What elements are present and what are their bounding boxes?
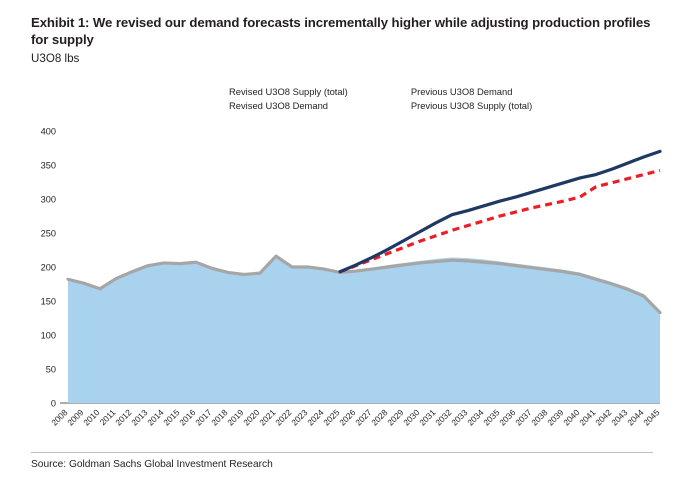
x-axis-tick-label: 2037 bbox=[513, 407, 533, 427]
x-axis-tick-label: 2012 bbox=[113, 407, 133, 427]
x-axis-tick-label: 2030 bbox=[401, 407, 421, 427]
x-axis-tick-label: 2039 bbox=[545, 407, 565, 427]
x-axis-tick-label: 2022 bbox=[273, 407, 293, 427]
y-axis-tick-label: 400 bbox=[41, 126, 56, 136]
x-axis-tick-label: 2036 bbox=[497, 407, 517, 427]
x-axis-tick-label: 2017 bbox=[193, 407, 213, 427]
x-axis-tick-label: 2038 bbox=[529, 407, 549, 427]
x-axis-tick-label: 2010 bbox=[81, 407, 101, 427]
y-axis-tick-label: 100 bbox=[41, 330, 56, 340]
series-area-revised-supply bbox=[68, 256, 660, 403]
exhibit-chart-panel: Exhibit 1: We revised our demand forecas… bbox=[0, 0, 680, 484]
x-axis-tick-label: 2025 bbox=[321, 407, 341, 427]
x-axis-tick-label: 2041 bbox=[577, 407, 597, 427]
y-axis-tick-label: 250 bbox=[41, 228, 56, 238]
x-axis-tick-label: 2028 bbox=[369, 407, 389, 427]
source-note: Source: Goldman Sachs Global Investment … bbox=[31, 459, 273, 470]
footer-divider bbox=[31, 452, 653, 453]
x-axis-tick-label: 2033 bbox=[449, 407, 469, 427]
y-axis-tick-label: 300 bbox=[41, 194, 56, 204]
x-axis-tick-label: 2015 bbox=[161, 407, 181, 427]
x-axis-tick-labels: 2008200920102011201220132014201520162017… bbox=[49, 407, 661, 427]
x-axis-tick-label: 2008 bbox=[49, 407, 69, 427]
y-axis-tick-label: 50 bbox=[46, 364, 56, 374]
y-axis-tick-label: 0 bbox=[51, 398, 56, 408]
x-axis-tick-label: 2023 bbox=[289, 407, 309, 427]
x-axis-tick-label: 2019 bbox=[225, 407, 245, 427]
x-axis-tick-label: 2031 bbox=[417, 407, 437, 427]
x-axis-tick-label: 2035 bbox=[481, 407, 501, 427]
x-axis-tick-label: 2045 bbox=[641, 407, 661, 427]
x-axis-tick-label: 2042 bbox=[593, 407, 613, 427]
series-line-previous-demand bbox=[340, 170, 660, 271]
x-axis-tick-label: 2034 bbox=[465, 407, 485, 427]
x-axis-tick-label: 2043 bbox=[609, 407, 629, 427]
x-axis-tick-label: 2013 bbox=[129, 407, 149, 427]
y-axis-tick-label: 150 bbox=[41, 296, 56, 306]
chart-svg: 050100150200250300350400 200820092010201… bbox=[0, 0, 680, 484]
x-axis-tick-label: 2040 bbox=[561, 407, 581, 427]
x-axis-tick-label: 2014 bbox=[145, 407, 165, 427]
y-axis-tick-label: 200 bbox=[41, 262, 56, 272]
x-axis-tick-label: 2029 bbox=[385, 407, 405, 427]
x-axis-tick-label: 2032 bbox=[433, 407, 453, 427]
x-axis-tick-label: 2027 bbox=[353, 407, 373, 427]
x-axis-tick-label: 2018 bbox=[209, 407, 229, 427]
x-axis-tick-label: 2020 bbox=[241, 407, 261, 427]
x-axis-tick-label: 2021 bbox=[257, 407, 277, 427]
y-axis-tick-labels: 050100150200250300350400 bbox=[41, 126, 56, 408]
x-axis-tick-label: 2009 bbox=[65, 407, 85, 427]
plot-area: 050100150200250300350400 200820092010201… bbox=[0, 0, 680, 484]
x-axis-tick-label: 2024 bbox=[305, 407, 325, 427]
x-axis-tick-label: 2026 bbox=[337, 407, 357, 427]
x-axis-tick-label: 2044 bbox=[625, 407, 645, 427]
y-axis-tick-label: 350 bbox=[41, 160, 56, 170]
x-axis-tick-label: 2011 bbox=[98, 407, 118, 427]
x-axis-tick-label: 2016 bbox=[177, 407, 197, 427]
